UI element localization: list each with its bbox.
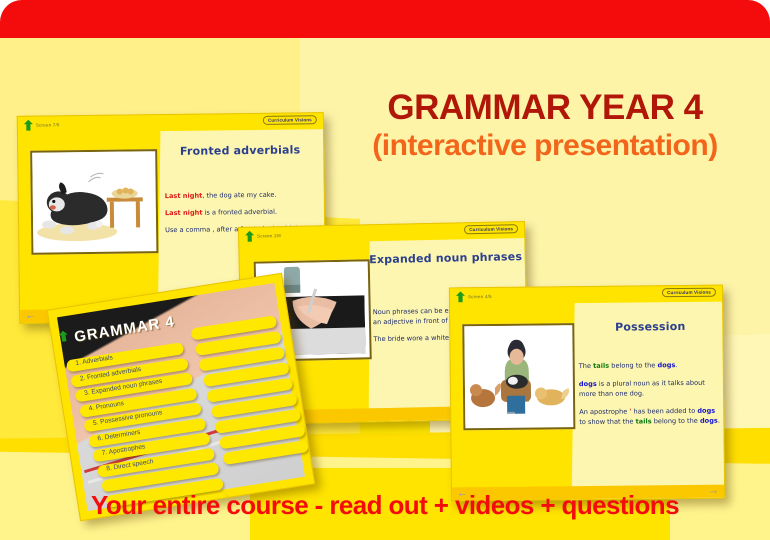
text-run: is a fronted adverbial.	[202, 208, 277, 217]
slide-possession[interactable]: Screen 4/5 Curriculum Visions	[449, 285, 725, 502]
text-run: .	[675, 361, 677, 369]
screen-number-label: Screen 2/8	[257, 233, 281, 238]
slide-paragraph: Last night is a fronted adverbial.	[165, 206, 317, 218]
screen-number-label: Screen 7/8	[36, 122, 60, 127]
poster-headline: GRAMMAR YEAR 4 (interactive presentation…	[330, 90, 760, 162]
back-arrow-icon[interactable]: ←	[25, 311, 36, 322]
slide-title: Possession	[574, 320, 725, 335]
slide-title: Fronted adverbials	[160, 143, 320, 158]
text-run: belong to the	[652, 417, 700, 426]
text-run: to show that the	[579, 418, 635, 427]
slide-image	[30, 149, 158, 255]
poster-interior: Screen 7/8 Curriculum Visions	[0, 38, 770, 540]
headline-line-1: GRAMMAR YEAR 4	[330, 90, 760, 127]
screen-number-label: Screen 4/5	[468, 294, 492, 299]
highlighted-word: dogs	[700, 417, 718, 425]
slide-paragraph: dogs is a plural noun as it talks about …	[579, 377, 721, 400]
curriculum-visions-badge: Curriculum Visions	[263, 115, 317, 125]
bottom-banner: Your entire course - read out + videos +…	[0, 490, 770, 521]
slide-body-text: The tails belong to the dogs.dogs is a p…	[579, 360, 722, 435]
slide-paragraph: An apostrophe ' has been added to dogs t…	[579, 405, 721, 428]
text-run: has been added to	[631, 406, 697, 415]
text-run: , the dog ate my cake.	[202, 191, 276, 200]
slide-grammar-4-contents[interactable]: GRAMMAR 4 1. Adverbials2. Fronted adverb…	[47, 273, 316, 522]
home-icon[interactable]	[58, 330, 69, 342]
home-icon[interactable]	[456, 291, 465, 302]
text-run: belong to the	[609, 361, 657, 370]
highlighted-word: dogs	[657, 361, 675, 369]
text-run: The	[579, 362, 593, 370]
curriculum-visions-badge: Curriculum Visions	[464, 224, 518, 234]
highlighted-word: dogs	[579, 379, 597, 387]
curriculum-visions-badge: Curriculum Visions	[662, 288, 716, 298]
home-icon[interactable]	[245, 231, 254, 242]
slide-image	[462, 323, 575, 430]
text-run: The bride wore a white	[373, 334, 451, 344]
text-run: is a plural noun as it talks about more …	[579, 378, 705, 398]
highlighted-word: dogs	[697, 406, 715, 414]
highlighted-word: Last night	[165, 192, 203, 200]
text-run: .	[718, 417, 720, 425]
text-run: An apostrophe	[579, 407, 629, 416]
highlighted-word: tails	[636, 418, 652, 426]
highlighted-word: Last night	[165, 209, 203, 217]
bottom-banner-text: Your entire course - read out + videos +…	[91, 490, 679, 520]
home-icon[interactable]	[24, 120, 33, 131]
poster-root: Screen 7/8 Curriculum Visions	[0, 0, 770, 540]
highlighted-word: tails	[593, 362, 609, 370]
slide-paragraph: Last night, the dog ate my cake.	[165, 189, 317, 201]
headline-line-2: (interactive presentation)	[330, 129, 760, 162]
slide-paragraph: The tails belong to the dogs.	[579, 360, 721, 372]
